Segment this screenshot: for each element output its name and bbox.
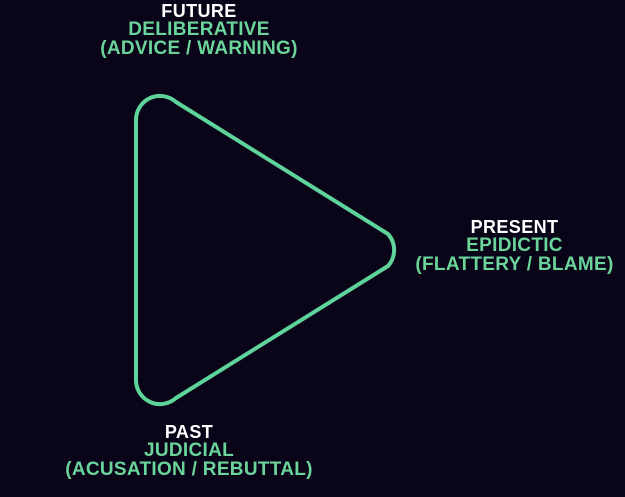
future-genre: DELIBERATIVE xyxy=(0,20,398,39)
present-genre: EPIDICTIC xyxy=(404,236,625,255)
vertex-label-future: FUTURE DELIBERATIVE (ADVICE / WARNING) xyxy=(0,2,398,58)
future-subtitle: (ADVICE / WARNING) xyxy=(0,39,398,58)
past-subtitle: (ACUSATION / REBUTTAL) xyxy=(0,460,378,479)
present-subtitle: (FLATTERY / BLAME) xyxy=(404,255,625,274)
diagram-canvas: FUTURE DELIBERATIVE (ADVICE / WARNING) P… xyxy=(0,0,625,497)
vertex-label-past: PAST JUDICIAL (ACUSATION / REBUTTAL) xyxy=(0,423,378,479)
present-timeframe: PRESENT xyxy=(404,218,625,236)
past-genre: JUDICIAL xyxy=(0,441,378,460)
future-timeframe: FUTURE xyxy=(0,2,398,20)
vertex-label-present: PRESENT EPIDICTIC (FLATTERY / BLAME) xyxy=(404,218,625,274)
past-timeframe: PAST xyxy=(0,423,378,441)
triangle-path xyxy=(136,96,394,404)
